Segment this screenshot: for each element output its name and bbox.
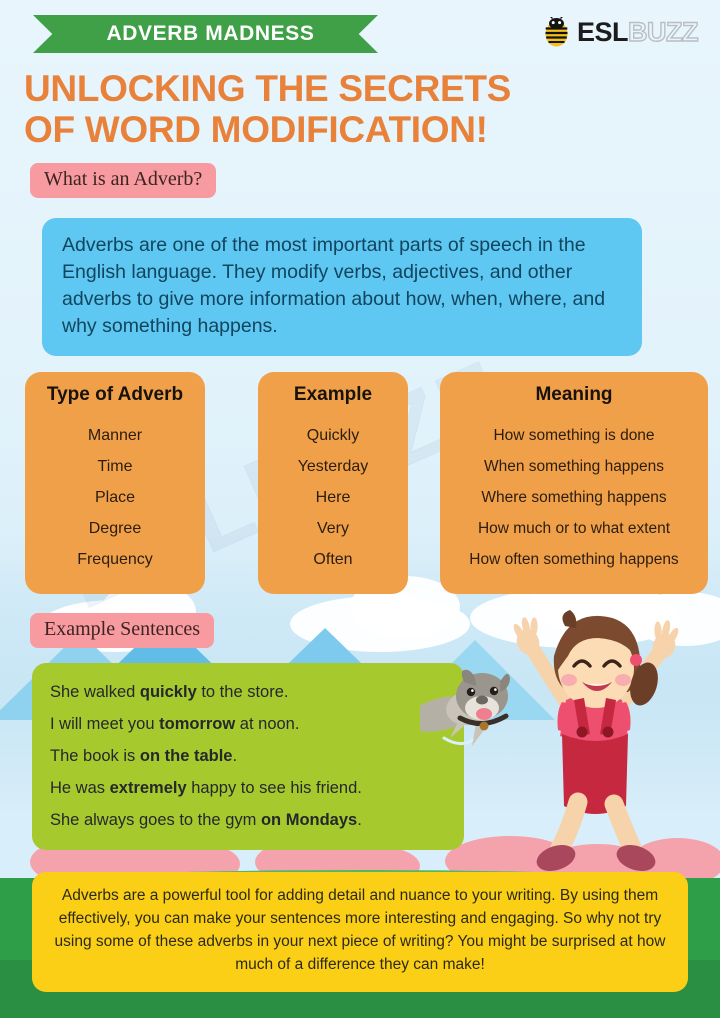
dog-illustration: [420, 670, 510, 746]
adverb-highlight: on the table: [140, 747, 233, 765]
section-badge-example-sentences: Example Sentences: [30, 613, 214, 648]
adverb-highlight: tomorrow: [159, 715, 235, 733]
girl-illustration: [512, 610, 681, 876]
table-row: How much or to what extent: [448, 513, 700, 544]
logo-buzz-text: BUZZ: [628, 17, 698, 47]
table-row: Yesterday: [266, 451, 400, 482]
table-row: Frequency: [33, 544, 197, 575]
page-title-line-1: UNLOCKING THE SECRETS: [24, 68, 584, 109]
table-row: Where something happens: [448, 482, 700, 513]
column-header-meaning: Meaning: [448, 384, 700, 406]
table-row: Here: [266, 482, 400, 513]
table-row: How something is done: [448, 420, 700, 451]
ribbon-banner: ADVERB MADNESS: [33, 15, 378, 53]
page-title-line-2: OF WORD MODIFICATION!: [24, 109, 584, 150]
table-row: How often something happens: [448, 544, 700, 575]
table-row: Often: [266, 544, 400, 575]
adverb-highlight: on Mondays: [261, 811, 357, 829]
logo-esl-text: ESL: [577, 17, 628, 47]
table-row: When something happens: [448, 451, 700, 482]
adverb-highlight: extremely: [110, 779, 187, 797]
list-item: He was extremely happy to see his friend…: [50, 772, 446, 804]
table-row: Manner: [33, 420, 197, 451]
column-header-example: Example: [266, 384, 400, 406]
list-item: I will meet you tomorrow at noon.: [50, 708, 446, 740]
table-row: Place: [33, 482, 197, 513]
table-row: Quickly: [266, 420, 400, 451]
ribbon-label: ADVERB MADNESS: [97, 22, 315, 46]
table-column-type-of-adverb: Type of Adverb Manner Time Place Degree …: [25, 372, 205, 594]
table-row: Very: [266, 513, 400, 544]
eslbuzz-logo: ESLBUZZ: [543, 17, 698, 47]
bee-icon: [543, 17, 570, 47]
list-item: The book is on the table.: [50, 740, 446, 772]
table-row: Time: [33, 451, 197, 482]
table-row: Degree: [33, 513, 197, 544]
definition-box: Adverbs are one of the most important pa…: [42, 218, 642, 356]
table-column-meaning: Meaning How something is done When somet…: [440, 372, 708, 594]
list-item: She always goes to the gym on Mondays.: [50, 804, 446, 836]
table-column-example: Example Quickly Yesterday Here Very Ofte…: [258, 372, 408, 594]
example-sentences-box: She walked quickly to the store. I will …: [32, 663, 464, 850]
page-title: UNLOCKING THE SECRETS OF WORD MODIFICATI…: [24, 68, 584, 151]
conclusion-box: Adverbs are a powerful tool for adding d…: [32, 872, 688, 992]
adverb-highlight: quickly: [140, 683, 197, 701]
list-item: She walked quickly to the store.: [50, 676, 446, 708]
section-badge-what-is-an-adverb: What is an Adverb?: [30, 163, 216, 198]
logo-wordmark: ESLBUZZ: [577, 19, 698, 46]
infographic-poster: ESLBUZZ ADVERB MADNESS ESLBUZZ UNLOCKING…: [0, 0, 720, 1018]
girl-and-dog-illustration: [420, 596, 720, 886]
column-header-type: Type of Adverb: [33, 384, 197, 406]
